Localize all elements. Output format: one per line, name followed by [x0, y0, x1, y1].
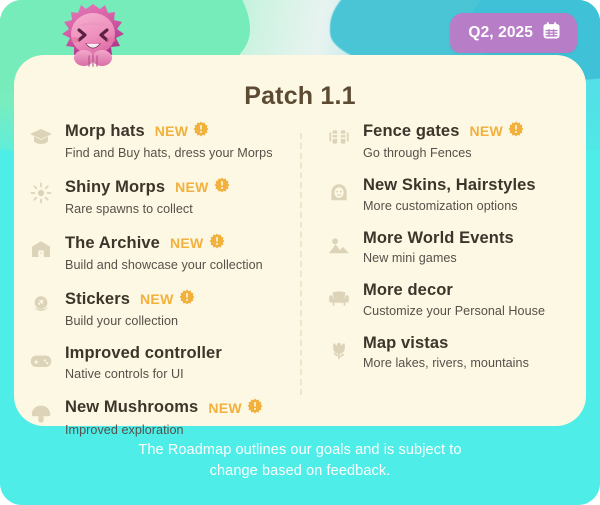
- feature-item[interactable]: Fence gates NEW: [326, 121, 576, 160]
- new-badge-label: NEW: [469, 124, 503, 138]
- new-badge: NEW: [155, 121, 210, 141]
- new-burst-icon: [209, 233, 225, 253]
- feature-item[interactable]: More World Events NEW New mini games: [326, 230, 576, 266]
- feature-headline: Map vistas NEW: [363, 335, 576, 352]
- mountain-sun-icon: [326, 233, 352, 259]
- feature-subtitle: More customization options: [363, 199, 576, 213]
- mushroom-icon: [28, 401, 54, 427]
- feature-item[interactable]: Improved controller NEW Native controls …: [28, 345, 288, 381]
- new-badge-label: NEW: [140, 292, 174, 306]
- footer-line-2: change based on feedback.: [0, 461, 600, 482]
- feature-headline: Fence gates NEW: [363, 121, 576, 141]
- feature-text: Fence gates NEW: [363, 121, 576, 160]
- feature-title: Fence gates: [363, 123, 459, 140]
- feature-title: Shiny Morps: [65, 179, 165, 196]
- feature-text: More decor NEW Customize your Personal H…: [363, 282, 576, 318]
- feature-subtitle: Rare spawns to collect: [65, 202, 288, 216]
- feature-text: New Mushrooms NEW: [65, 398, 288, 437]
- new-badge-label: NEW: [208, 401, 242, 415]
- new-badge: NEW: [175, 177, 230, 197]
- feature-column-left: Morp hats NEW: [14, 121, 300, 437]
- feature-text: Stickers NEW: [65, 289, 288, 328]
- patch-card: Patch 1.1 Morp hats: [14, 55, 586, 426]
- feature-item[interactable]: New Skins, Hairstyles NEW More customiza…: [326, 177, 576, 213]
- new-badge-label: NEW: [175, 180, 209, 194]
- new-burst-icon: [247, 398, 263, 418]
- feature-text: New Skins, Hairstyles NEW More customiza…: [363, 177, 576, 213]
- tulip-icon: [326, 338, 352, 364]
- gamepad-icon: [28, 348, 54, 374]
- armchair-icon: [326, 285, 352, 311]
- feature-title: Stickers: [65, 291, 130, 308]
- graduation-cap-icon: [28, 124, 54, 150]
- new-badge-label: NEW: [155, 124, 189, 138]
- new-badge: NEW: [140, 289, 195, 309]
- feature-title: Improved controller: [65, 345, 222, 362]
- new-badge: NEW: [208, 398, 263, 418]
- new-burst-icon: [508, 121, 524, 141]
- quarter-badge-label: Q2, 2025: [468, 24, 533, 42]
- feature-title: More World Events: [363, 230, 514, 247]
- feature-headline: More decor NEW: [363, 282, 576, 299]
- warehouse-icon: [28, 236, 54, 262]
- feature-text: More World Events NEW New mini games: [363, 230, 576, 266]
- new-badge-label: NEW: [170, 236, 204, 250]
- feature-column-right: Fence gates NEW: [300, 121, 586, 437]
- feature-text: Map vistas NEW More lakes, rivers, mount…: [363, 335, 576, 371]
- sticker-icon: [28, 292, 54, 318]
- fence-gate-icon: [326, 124, 352, 150]
- feature-subtitle: Native controls for UI: [65, 367, 288, 381]
- footer-disclaimer: The Roadmap outlines our goals and is su…: [0, 440, 600, 482]
- feature-item[interactable]: New Mushrooms NEW: [28, 398, 288, 437]
- column-divider: [300, 133, 302, 395]
- avatar-hair-icon: [326, 180, 352, 206]
- feature-subtitle: Customize your Personal House: [363, 304, 576, 318]
- roadmap-patch-card: Q2, 2025 Patch 1.1: [0, 0, 600, 505]
- calendar-icon: [542, 21, 561, 45]
- feature-headline: More World Events NEW: [363, 230, 576, 247]
- quarter-badge[interactable]: Q2, 2025: [450, 13, 577, 53]
- feature-item[interactable]: The Archive NEW: [28, 233, 288, 272]
- feature-headline: Shiny Morps NEW: [65, 177, 288, 197]
- feature-text: Improved controller NEW Native controls …: [65, 345, 288, 381]
- feature-subtitle: Find and Buy hats, dress your Morps: [65, 146, 288, 160]
- sparkle-sun-icon: [28, 180, 54, 206]
- feature-item[interactable]: Shiny Morps NEW: [28, 177, 288, 216]
- new-badge: NEW: [170, 233, 225, 253]
- feature-headline: Morp hats NEW: [65, 121, 288, 141]
- feature-item[interactable]: Map vistas NEW More lakes, rivers, mount…: [326, 335, 576, 371]
- new-burst-icon: [179, 289, 195, 309]
- feature-headline: New Mushrooms NEW: [65, 398, 288, 418]
- feature-headline: Stickers NEW: [65, 289, 288, 309]
- footer-line-1: The Roadmap outlines our goals and is su…: [0, 440, 600, 461]
- mascot-morp-character: [56, 2, 130, 72]
- new-badge: NEW: [469, 121, 524, 141]
- feature-title: Map vistas: [363, 335, 448, 352]
- new-burst-icon: [193, 121, 209, 141]
- feature-item[interactable]: Morp hats NEW: [28, 121, 288, 160]
- feature-subtitle: New mini games: [363, 251, 576, 265]
- feature-item[interactable]: More decor NEW Customize your Personal H…: [326, 282, 576, 318]
- feature-item[interactable]: Stickers NEW: [28, 289, 288, 328]
- feature-text: Shiny Morps NEW: [65, 177, 288, 216]
- feature-title: New Skins, Hairstyles: [363, 177, 536, 194]
- feature-subtitle: Build and showcase your collection: [65, 258, 288, 272]
- feature-title: More decor: [363, 282, 453, 299]
- feature-headline: New Skins, Hairstyles NEW: [363, 177, 576, 194]
- feature-title: New Mushrooms: [65, 399, 198, 416]
- feature-title: Morp hats: [65, 123, 145, 140]
- feature-text: The Archive NEW: [65, 233, 288, 272]
- feature-headline: Improved controller NEW: [65, 345, 288, 362]
- new-burst-icon: [214, 177, 230, 197]
- feature-subtitle: Improved exploration: [65, 423, 288, 437]
- feature-headline: The Archive NEW: [65, 233, 288, 253]
- feature-text: Morp hats NEW: [65, 121, 288, 160]
- feature-subtitle: Go through Fences: [363, 146, 576, 160]
- feature-subtitle: Build your collection: [65, 314, 288, 328]
- feature-subtitle: More lakes, rivers, mountains: [363, 356, 576, 370]
- feature-title: The Archive: [65, 235, 160, 252]
